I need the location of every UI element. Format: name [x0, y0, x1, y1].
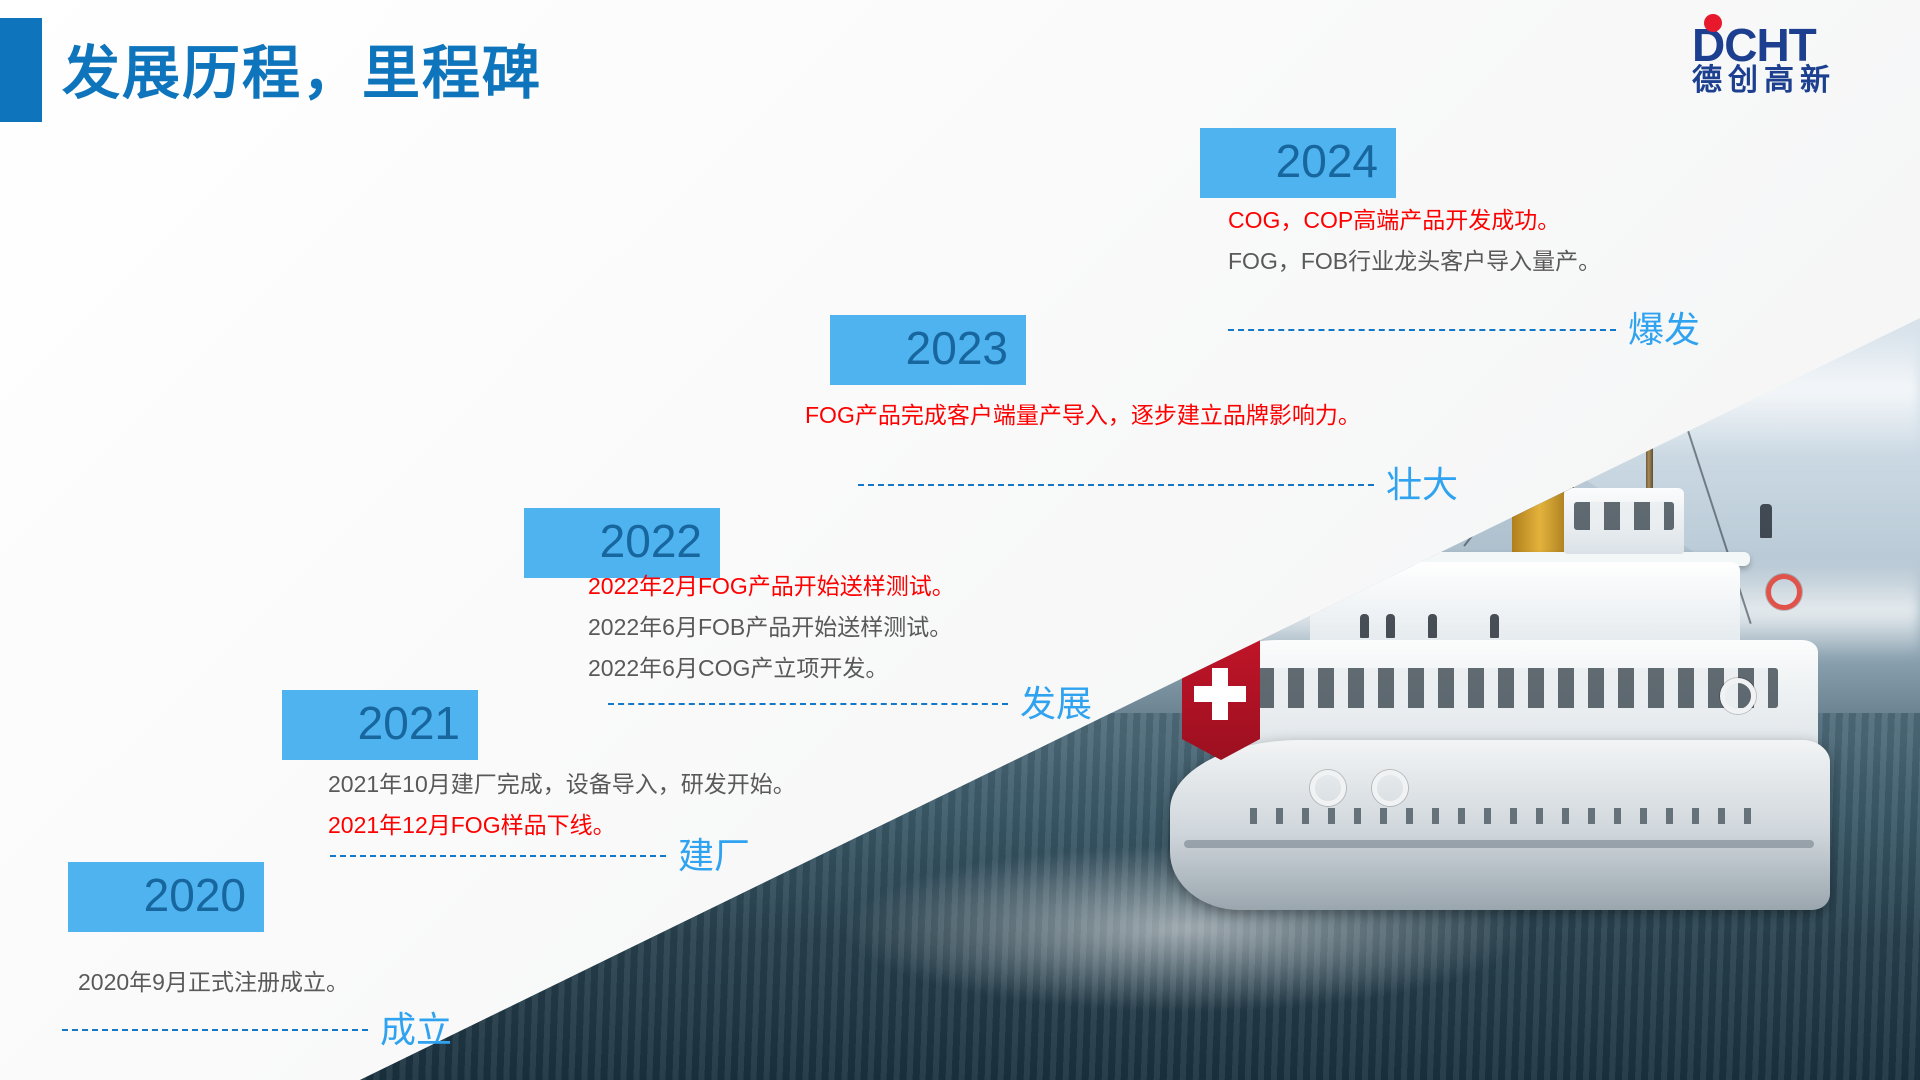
passenger	[1428, 614, 1437, 638]
cloud-band	[360, 173, 1920, 303]
life-ring	[1310, 770, 1346, 806]
hull	[1170, 740, 1830, 910]
life-ring	[1766, 574, 1802, 610]
stage-label-2021: 建厂	[678, 838, 750, 874]
milestone-text: FOG产品完成客户端量产导入，逐步建立品牌影响力。	[805, 395, 1361, 436]
passenger	[1360, 614, 1369, 638]
connector-dashed-line	[858, 484, 1374, 486]
page-title: 发展历程，里程碑	[62, 26, 542, 110]
porthole-row	[1250, 808, 1770, 824]
passenger	[1386, 614, 1395, 638]
passenger	[1490, 614, 1499, 638]
stage-label-2020: 成立	[380, 1012, 452, 1048]
stage-label-2024: 爆发	[1628, 312, 1700, 348]
logo-wordmark-en: DCHT	[1692, 22, 1890, 68]
year-badge-2020[interactable]: 2020	[68, 862, 264, 932]
connector-dashed-line	[608, 703, 1008, 705]
connector-dashed-line	[1228, 329, 1616, 331]
milestone-text: 2022年6月COG产立项开发。	[588, 648, 955, 689]
year-badge-2023[interactable]: 2023	[830, 315, 1026, 385]
hull-stripe	[1184, 840, 1814, 848]
milestone-text: 2020年9月正式注册成立。	[78, 962, 349, 1003]
milestone-text: COG，COP高端产品开发成功。	[1228, 200, 1601, 241]
fore-mast	[1646, 240, 1653, 490]
diagonal-photo-region	[0, 0, 1920, 1080]
stage-label-2023: 壮大	[1386, 467, 1458, 503]
title-accent-bar	[0, 18, 42, 122]
flag-cross	[1194, 686, 1246, 702]
pennant	[1653, 288, 1667, 310]
pennant	[1653, 248, 1667, 270]
stage-label-2022: 发展	[1020, 686, 1092, 722]
wheelhouse	[1564, 488, 1684, 554]
logo-dot-icon	[1704, 14, 1722, 32]
deck-windows	[1258, 668, 1778, 708]
crew-member	[1760, 504, 1772, 538]
wheelhouse-windows	[1574, 502, 1674, 530]
life-ring	[1720, 678, 1756, 714]
life-ring	[1372, 770, 1408, 806]
connector-dashed-line	[62, 1029, 368, 1031]
milestone-text: 2022年2月FOG产品开始送样测试。	[588, 566, 955, 607]
logo-wordmark-cn: 德创高新	[1692, 66, 1890, 96]
year-badge-2021[interactable]: 2021	[282, 690, 478, 760]
connector-dashed-line	[330, 855, 666, 857]
milestone-text: 2021年10月建厂完成，设备导入，研发开始。	[328, 764, 796, 805]
milestone-text: 2022年6月FOB产品开始送样测试。	[588, 607, 955, 648]
milestone-text: FOG，FOB行业龙头客户导入量产。	[1228, 241, 1601, 282]
upper-deck	[1310, 562, 1740, 648]
company-logo: DCHT 德创高新	[1692, 8, 1890, 104]
year-badge-2024[interactable]: 2024	[1200, 128, 1396, 198]
slide-canvas: 发展历程，里程碑 DCHT 德创高新 2024 COG，COP高端产品开发成功。…	[0, 0, 1920, 1080]
